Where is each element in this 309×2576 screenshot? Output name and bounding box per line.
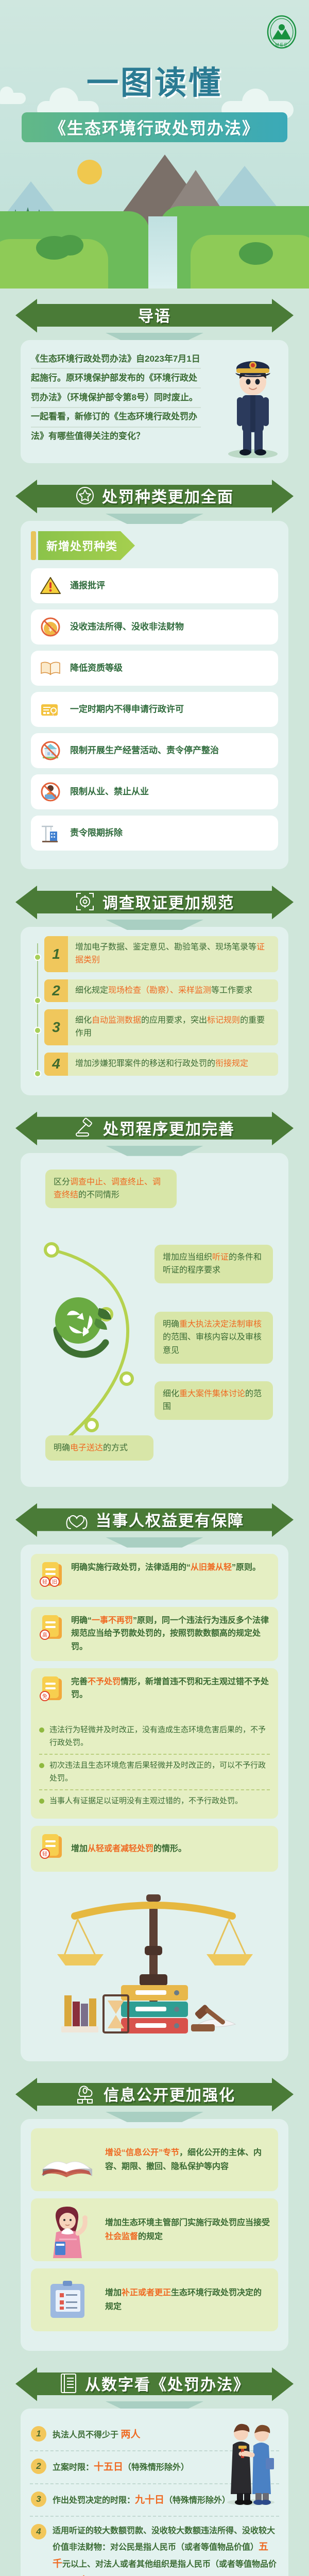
list-item: 责令限期拆除 [31, 816, 278, 851]
recycle-heart-leaf-icon [46, 1289, 118, 1361]
procedure-bubble: 增加应当组织听证的条件和听证的程序要求 [154, 1245, 273, 1283]
item-number: 3 [31, 2492, 46, 2507]
list-item-label: 没收违法所得、没收非法财物 [70, 621, 184, 633]
crane-icon [39, 822, 62, 844]
item-number: 1 [44, 936, 68, 972]
procedure-bubble: 明确重大执法决定法制审核的范围、审核内容以及审核意见 [154, 1312, 273, 1364]
rights-banner: 当事人权益更有保障 [0, 1500, 309, 1539]
sub-list-item-text: 违法行为轻微并及时改正，没有造成生态环境危害后果的，不予行政处罚。 [49, 1723, 270, 1750]
doc-badge-icon: 轻 [39, 1833, 64, 1865]
list-item-label: 一定时期内不得申请行政许可 [70, 703, 184, 716]
list-item-label: 限制开展生产经营活动、责令停产整治 [70, 744, 219, 757]
list-item: ¥ 没收违法所得、没收非法财物 [31, 609, 278, 645]
badge-text: 免 [42, 1693, 47, 1700]
doc-badge-icon: 轻 旧 [39, 1561, 64, 1592]
svg-text:MEE: MEE [275, 42, 288, 47]
number-item-text: 执法人员不得少于 两人 [53, 2426, 140, 2443]
cloud-network-icon [74, 2083, 96, 2105]
rights-item-text: 明确实施行政处罚，法律适用的“从旧兼从轻”原则。 [71, 1561, 261, 1574]
item-number: 2 [31, 2459, 46, 2474]
disclosure-banner-title: 信息公开更加强化 [104, 2082, 235, 2105]
rights-item: 免 完善不予处罚情形，新增首违不罚和无主观过错不予处罚。 违法行为轻微并及时改正… [31, 1668, 278, 1819]
disclosure-panel: 增设“信息公开”专节，细化公开的主体、内容、期限、撤回、隐私保护等内容 [21, 2119, 288, 2351]
timeline-line [37, 943, 38, 1071]
item-number: 4 [31, 2524, 46, 2539]
list-item-label: 责令限期拆除 [70, 827, 123, 839]
hero-banner: MEE 一图读懂 《生态环境行政处罚办法》 [0, 0, 309, 289]
sub-list-item: 初次违法且生态环境危害后果轻微并及时改正的，可以不予行政处罚。 [39, 1754, 270, 1789]
open-book-icon [39, 657, 62, 680]
sub-list-item-text: 当事人有证据足以证明没有主观过错的，不予行政处罚。 [49, 1794, 243, 1808]
item-text: 增加电子数据、鉴定意见、勘验笔录、现场笔录等证据类别 [68, 936, 278, 972]
bush-decoration [57, 235, 83, 256]
warning-triangle-icon [39, 574, 62, 597]
no-person-icon [39, 781, 62, 803]
item-text: 细化自动监测数据的应用要求，突出标记规则的重要作用 [68, 1009, 278, 1045]
rights-panel: 轻 旧 明确实施行政处罚，法律适用的“从旧兼从轻”原则。 高 [21, 1545, 288, 2061]
intro-banner-title: 导语 [138, 303, 171, 326]
timeline-dot [34, 1027, 41, 1034]
timeline-dot [34, 954, 41, 961]
open-book-icon [39, 2137, 96, 2183]
badge-text: 轻 [42, 1579, 47, 1585]
list-item-label: 降低资质等级 [70, 662, 123, 674]
disclosure-item-text: 增加补正或者更正生态环境行政处罚决定的规定 [105, 2286, 270, 2314]
rights-sublist: 违法行为轻微并及时改正，没有造成生态环境危害后果的，不予行政处罚。 初次违法且生… [39, 1719, 270, 1812]
procedure-panel: 区分调查中止、调查终止、调查终结的不同情形 增加应当组织听证的条件和听证的程序要… [21, 1153, 288, 1487]
book-list-icon [59, 2372, 78, 2394]
rights-item: 轻 旧 明确实施行政处罚，法律适用的“从旧兼从轻”原则。 [31, 1554, 278, 1600]
list-item: 限制开展生产经营活动、责令停产整治 [31, 733, 278, 768]
officer-mascot-icon [225, 350, 281, 458]
no-money-icon: ¥ [39, 616, 62, 638]
bullet-dot [39, 1799, 44, 1804]
timeline-dot [34, 1070, 41, 1077]
sub-list-item-text: 初次违法且生态环境危害后果轻微并及时改正的，可以不予行政处罚。 [49, 1759, 270, 1785]
numbered-item: 4 增加涉嫌犯罪案件的移送和行政处罚的衔接规定 [44, 1053, 278, 1076]
rights-item-text: 明确“一事不再罚”原则，同一个违法行为违反多个法律规范应当给予罚款处罚的，按照罚… [71, 1614, 270, 1654]
disclosure-item: 增加补正或者更正生态环境行政处罚决定的规定 [31, 2268, 278, 2331]
disclosure-item-text: 增设“信息公开”专节，细化公开的主体、内容、期限、撤回、隐私保护等内容 [105, 2146, 270, 2174]
item-number: 2 [44, 979, 68, 1003]
numbers-banner-title: 从数字看《处罚办法》 [85, 2372, 250, 2395]
sub-list-item: 当事人有证据足以证明没有主观过错的，不予行政处罚。 [39, 1789, 270, 1812]
page-title: 一图读懂 [0, 57, 309, 103]
sub-list-item: 违法行为轻微并及时改正，没有造成生态环境危害后果的，不予行政处罚。 [39, 1719, 270, 1754]
bullet-dot [39, 1763, 44, 1768]
rights-banner-title: 当事人权益更有保障 [96, 1508, 244, 1531]
badge-text: 高 [42, 1632, 47, 1638]
list-item-label: 通报批评 [70, 580, 105, 592]
number-item-text: 适用听证的较大数额罚款、没收较大数额违法所得、没收较大价值非法财物：对公民是指人… [53, 2524, 278, 2576]
item-number: 4 [44, 1053, 68, 1076]
disclosure-banner: 信息公开更加强化 [0, 2075, 309, 2114]
target-scan-icon [75, 891, 95, 912]
item-number: 3 [44, 1009, 68, 1045]
number-item-text: 立案时限：十五日（特殊情形除外） [53, 2459, 189, 2476]
bush-decoration [239, 242, 273, 265]
procedure-bubble: 细化重大案件集体讨论的范围 [154, 1381, 273, 1420]
evidence-banner-title: 调查取证更加规范 [102, 890, 234, 913]
numbered-item: 1 增加电子数据、鉴定意见、勘验笔录、现场笔录等证据类别 [44, 936, 278, 972]
procedure-flow: 区分调查中止、调查终止、调查终结的不同情形 增加应当组织听证的条件和听证的程序要… [31, 1162, 278, 1482]
new-penalty-types-tag: 新增处罚种类 [31, 531, 278, 560]
timeline-dot [34, 997, 41, 1004]
two-officers-illustration [222, 2418, 279, 2505]
item-text: 增加涉嫌犯罪案件的移送和行政处罚的衔接规定 [68, 1053, 278, 1076]
heart-hands-icon [65, 1509, 89, 1530]
mee-logo-icon: MEE [266, 14, 298, 52]
list-item: 通报批评 [31, 568, 278, 603]
list-item-label: 限制从业、禁止从业 [70, 786, 149, 798]
intro-banner: 导语 [0, 296, 309, 335]
gavel-icon [74, 1117, 96, 1138]
doc-badge-icon: 免 [39, 1675, 64, 1707]
penalty-types-panel: 新增处罚种类 通报批评 ¥ 没收违法所得、没收非法财 [21, 521, 288, 869]
item-text: 细化规定现场检查（勘察）、采样监测等工作要求 [68, 979, 278, 1003]
disclosure-item-text: 增加生态环境主管部门实施行政处罚应当接受社会监督的规定 [105, 2216, 270, 2244]
number-item: 4 适用听证的较大数额罚款、没收较大数额违法所得、没收较大价值非法财物：对公民是… [30, 2517, 279, 2576]
evidence-list: 1 增加电子数据、鉴定意见、勘验笔录、现场笔录等证据类别 2 细化规定现场检查（… [31, 936, 278, 1076]
disclosure-item: 增加生态环境主管部门实施行政处罚应当接受社会监督的规定 [31, 2198, 278, 2261]
sun-decoration [77, 160, 102, 184]
clipboard-icon [39, 2277, 96, 2323]
procedure-bubble: 区分调查中止、调查终止、调查终结的不同情形 [45, 1170, 177, 1208]
list-item: 一定时期内不得申请行政许可 [31, 692, 278, 727]
license-card-icon [39, 698, 62, 721]
tag-bar [31, 531, 36, 560]
doc-badge-icon: 高 [39, 1614, 64, 1646]
numbers-banner: 从数字看《处罚办法》 [0, 2364, 309, 2403]
waterfall-decoration [148, 216, 177, 289]
bullet-dot [39, 1727, 44, 1733]
procedure-bubble: 明确电子送达的方式 [45, 1435, 153, 1461]
tag-label: 新增处罚种类 [46, 537, 117, 554]
star-badge-icon [75, 486, 95, 505]
disclosure-item: 增设“信息公开”专节，细化公开的主体、内容、期限、撤回、隐私保护等内容 [31, 2128, 278, 2191]
rights-item: 高 明确“一事不再罚”原则，同一个违法行为违反多个法律规范应当给予罚款处罚的，按… [31, 1607, 278, 1661]
numbered-item: 2 细化规定现场检查（勘察）、采样监测等工作要求 [44, 979, 278, 1003]
rights-item: 轻 增加从轻或者减轻处罚的情形。 [31, 1826, 278, 1872]
badge-text: 轻 [42, 1851, 47, 1857]
list-item: 限制从业、禁止从业 [31, 774, 278, 809]
evidence-panel: 1 增加电子数据、鉴定意见、勘验笔录、现场笔录等证据类别 2 细化规定现场检查（… [21, 927, 288, 1095]
no-factory-icon [39, 739, 62, 762]
justice-scales-illustration [31, 1879, 278, 2049]
number-item-text: 作出处罚决定的时限：九十日（特殊情形除外） [53, 2492, 230, 2509]
list-item: 降低资质等级 [31, 651, 278, 686]
infographic-page: MEE 一图读懂 《生态环境行政处罚办法》 导语 《生态环境行政处罚办法》 [0, 0, 309, 2576]
numbers-panel: 1 执法人员不得少于 两人 2 立案时限：十五日（特殊情形除外） 3 作出处罚决… [21, 2409, 288, 2576]
procedure-banner-title: 处罚程序更加完善 [103, 1116, 235, 1139]
intro-panel: 《生态环境行政处罚办法》自2023年7月1日起施行。原环境保护部发布的《环境行政… [21, 340, 288, 463]
penalty-types-banner-title: 处罚种类更加全面 [102, 484, 234, 507]
item-number: 1 [31, 2426, 46, 2442]
rights-item-text: 增加从轻或者减轻处罚的情形。 [71, 1842, 186, 1856]
rights-item-text: 完善不予处罚情形，新增首违不罚和无主观过错不予处罚。 [71, 1675, 270, 1702]
numbered-item: 3 细化自动监测数据的应用要求，突出标记规则的重要作用 [44, 1009, 278, 1045]
penalty-types-banner: 处罚种类更加全面 [0, 477, 309, 516]
intro-paragraph: 《生态环境行政处罚办法》自2023年7月1日起施行。原环境保护部发布的《环境行政… [31, 349, 201, 446]
procedure-banner: 处罚程序更加完善 [0, 1109, 309, 1148]
page-subtitle: 《生态环境行政处罚办法》 [22, 112, 287, 142]
woman-pointing-icon [39, 2207, 96, 2253]
evidence-banner: 调查取证更加规范 [0, 883, 309, 922]
badge-text: 旧 [52, 1579, 57, 1585]
